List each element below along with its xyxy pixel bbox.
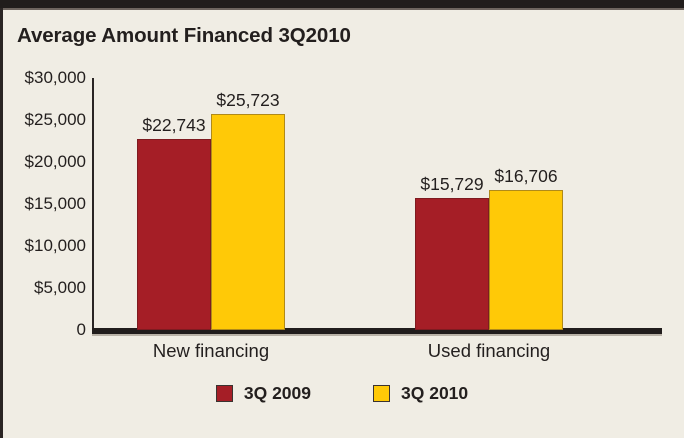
bar-new-financing-3q-2010	[211, 114, 285, 330]
bar-value-label: $16,706	[494, 166, 557, 187]
legend-item-3q-2009[interactable]: 3Q 2009	[216, 383, 311, 404]
x-axis-category-label: Used financing	[428, 340, 550, 362]
y-axis-tick-label: $15,000	[2, 194, 86, 214]
chart-legend: 3Q 20093Q 2010	[0, 383, 684, 404]
y-axis-tick-label: $25,000	[2, 110, 86, 130]
bar-value-label: $25,723	[216, 90, 279, 111]
chart-title: Average Amount Financed 3Q2010	[17, 24, 351, 48]
top-frame-band	[0, 0, 684, 8]
bar-used-financing-3q-2009	[415, 198, 489, 330]
chart-figure: Average Amount Financed 3Q2010 $30,000$2…	[0, 0, 684, 438]
y-axis-tick-label: $30,000	[2, 68, 86, 88]
legend-label: 3Q 2009	[244, 383, 311, 404]
y-axis-tick-label: $5,000	[2, 278, 86, 298]
legend-label: 3Q 2010	[401, 383, 468, 404]
y-axis-tick-labels: $30,000$25,000$20,000$15,000$10,000$5,00…	[0, 78, 86, 330]
x-axis-category-label: New financing	[153, 340, 269, 362]
y-axis-tick-label: $10,000	[2, 236, 86, 256]
legend-swatch-icon	[373, 385, 390, 402]
y-axis-tick-label: 0	[2, 320, 86, 340]
legend-item-3q-2010[interactable]: 3Q 2010	[373, 383, 468, 404]
bar-new-financing-3q-2009	[137, 139, 211, 330]
plot-area: $22,743$25,723$15,729$16,706	[92, 78, 652, 330]
bar-value-label: $15,729	[420, 174, 483, 195]
y-axis-tick-label: $20,000	[2, 152, 86, 172]
bar-value-label: $22,743	[142, 115, 205, 136]
top-frame-hairline	[0, 8, 684, 10]
legend-swatch-icon	[216, 385, 233, 402]
bar-used-financing-3q-2010	[489, 190, 563, 330]
